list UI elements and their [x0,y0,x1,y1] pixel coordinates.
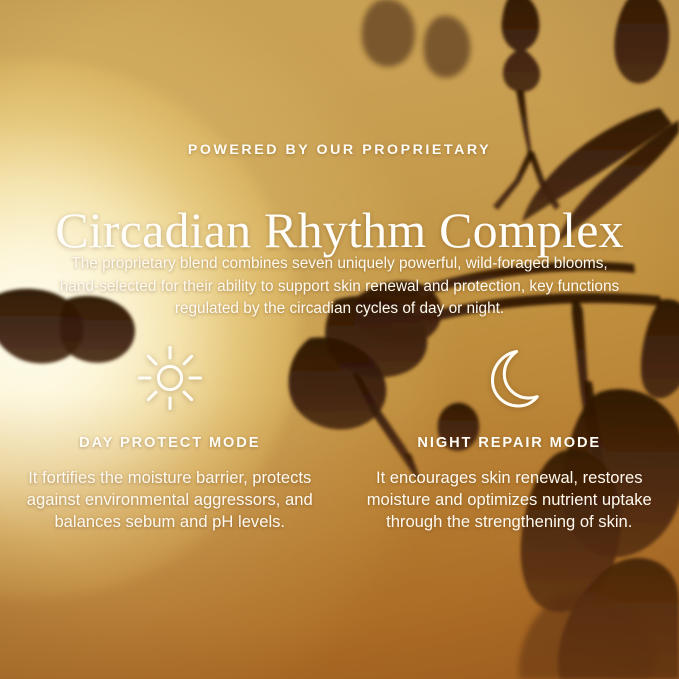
promo-banner: POWERED BY OUR PROPRIETARY Circadian Rhy… [0,0,679,679]
sun-icon [132,340,208,416]
mode-day: DAY PROTECT MODE It fortifies the moistu… [0,340,340,533]
mode-day-label: DAY PROTECT MODE [79,435,260,451]
eyebrow-text: POWERED BY OUR PROPRIETARY [0,142,679,158]
mode-day-body: It fortifies the moisture barrier, prote… [25,467,315,533]
page-title: Circadian Rhythm Complex [0,203,679,258]
moon-icon [471,340,547,416]
modes-row: DAY PROTECT MODE It fortifies the moistu… [0,340,679,533]
intro-paragraph: The proprietary blend combines seven uni… [60,253,620,320]
mode-night-body: It encourages skin renewal, restores moi… [364,467,654,533]
content-layer: POWERED BY OUR PROPRIETARY Circadian Rhy… [0,0,679,679]
mode-night-label: NIGHT REPAIR MODE [417,435,601,451]
mode-night: NIGHT REPAIR MODE It encourages skin ren… [340,340,679,533]
